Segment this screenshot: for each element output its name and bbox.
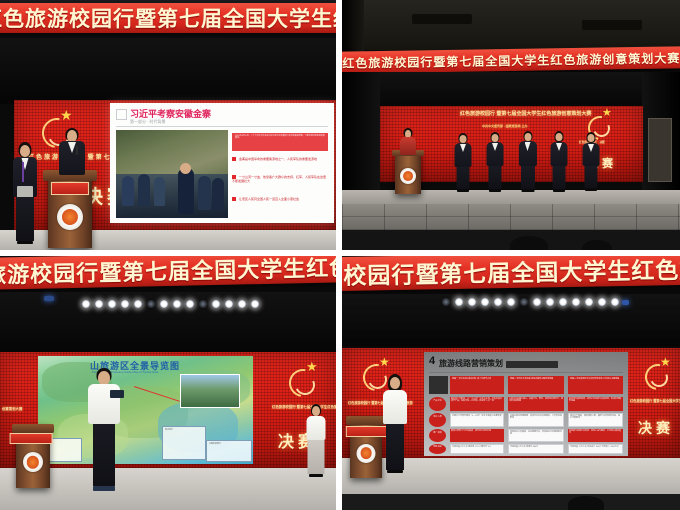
- stage-floor-tr: [342, 190, 680, 204]
- led-caption-bl-left: 创意策划大赛: [2, 406, 22, 411]
- tablet-icon: [110, 390, 124, 398]
- photo-panel-top-right[interactable]: 红色旅游校园行暨第七届全国大学生红色旅游创意策划大赛 红色旅游校园行 暨第七届全…: [342, 0, 680, 250]
- event-banner-tl: 红色旅游校园行暨第七届全国大学生红: [0, 3, 336, 33]
- podium-emblem-icon: [23, 452, 43, 472]
- matrix-number: 4: [429, 355, 435, 367]
- matrix-title-bar: [506, 361, 558, 368]
- stage-brick-pattern: [342, 204, 680, 230]
- person-contestant-3[interactable]: [516, 131, 539, 191]
- audience-head: [510, 236, 548, 250]
- person-host-tr[interactable]: [398, 128, 418, 154]
- podium-tl: [48, 170, 92, 248]
- matrix-cell-1-2: 以重走长征路为核心，设置行军、野炊、宿营等实践环节，强化集体荣誉感: [508, 397, 564, 411]
- slide-photo: [116, 130, 228, 218]
- slide-photo-caption: 2016年4月24日，二十七日中共中央总书记习近平在安徽省六安市金寨县考察，了解…: [232, 133, 328, 151]
- led-caption-tr: 红色旅游校园行 暨第七届全国大学生红色旅游创意策划大赛: [460, 110, 591, 117]
- matrix-row-label-2: 目标 人群: [429, 413, 446, 427]
- person-contestant-5[interactable]: [580, 132, 602, 190]
- map-legend-box: 景点索引: [162, 426, 206, 460]
- stage-door[interactable]: [648, 118, 672, 182]
- event-banner-br: 色旅游校园行暨第七届全国大学生红色旅游创: [342, 256, 680, 291]
- map-inset-photo: [180, 374, 240, 408]
- photo-collage: 红色旅游校园行暨第七届全国大学生红 ★ 红色旅游校园行 暨第七届全国大学生红色旅…: [0, 0, 680, 510]
- matrix-row-label-1: 产品 定位: [429, 397, 446, 411]
- slide-subtitle-tl: 第一部分 · 时代背景: [130, 119, 166, 125]
- event-logo-icon-right: ★: [642, 356, 674, 388]
- event-banner-tr: 红色旅游校园行暨第七届全国大学生红色旅游创意策划大赛: [342, 46, 680, 74]
- photo-panel-bottom-left[interactable]: 红色旅游校园行暨第七届全国大学生红色旅游 山旅游区全景导览图 Panoramic…: [0, 256, 336, 510]
- matrix-row-label-3: 推广 渠道: [429, 429, 446, 442]
- blue-light-icon: [44, 296, 54, 301]
- podium-bl: [16, 424, 50, 488]
- map-info-box: 主峰实景照片: [206, 440, 252, 462]
- stage-drape: [0, 38, 336, 104]
- audience-head: [582, 240, 612, 250]
- matrix-title: 旅游线路营销策划: [439, 358, 503, 369]
- auditorium-floor: [342, 494, 680, 510]
- person-contestant-1[interactable]: [452, 133, 474, 191]
- audience-head: [568, 496, 604, 510]
- person-host-bl[interactable]: [304, 404, 328, 480]
- matrix-col-header-3: 线路三 将军故里红色文化研学体验游 乡村振兴主题线路: [568, 376, 623, 394]
- matrix-cell-2-1: 全国中小学研学团体（6—18岁）及亲子家庭为主要客源: [450, 413, 504, 427]
- led-finals-br: 决赛: [638, 418, 674, 438]
- matrix-cell-1-3: 依托将军故里资源，结合乡村民宿与农事体验，形成红绿融合线路: [568, 397, 623, 411]
- ceiling-vent-icon: [582, 20, 642, 30]
- event-banner-bl: 红色旅游校园行暨第七届全国大学生红色旅游: [0, 256, 336, 290]
- blue-light-icon: [622, 300, 629, 305]
- matrix-col-header-2: 线路二 重走红军长征路 体验式教育主题营销线路: [508, 376, 564, 394]
- slide-bullet-2: 一寸山河一寸血，依靠着广大群众的支持，红军、人民军队在这里不断发展壮大: [232, 175, 328, 183]
- person-presenter-bl[interactable]: [84, 368, 124, 496]
- podium-sign: [10, 433, 53, 444]
- person-host-tl[interactable]: [10, 142, 40, 248]
- podium-emblem-icon: [57, 204, 83, 230]
- podium-sign: [51, 182, 89, 194]
- ceiling-vent-icon: [412, 14, 472, 24]
- slide-bullet-1: 金寨是中国革命的重要策源地之一，人民军队的重要发源地: [232, 157, 328, 161]
- led-subcaption-tr: 中共中央宣传部 · 国家旅游局 主办: [482, 124, 528, 128]
- matrix-cell-3-1: 教育主管部门与学校渠道、研学旅行机构分销: [450, 429, 504, 442]
- map-slide: 山旅游区全景导览图 Panoramic Sightseeing Guide Ma…: [38, 356, 253, 464]
- stage-light-bar: [82, 300, 259, 308]
- matrix-cell-4-3: 年接待量 12万人次 带动农户 300户 综合收入 3200万元: [568, 444, 623, 454]
- matrix-cell-2-3: 城市中产家庭、银发康养人群、摄影与自驾游爱好者、返乡寻根群体: [568, 413, 623, 427]
- person-contestant-4[interactable]: [548, 131, 570, 191]
- slide-bullet-3: 让老区人民同全国人民一道迈入全面小康社会: [232, 197, 328, 201]
- matrix-cell-3-2: 党政机关工会渠道、企业团建平台、高校就业与社团组织对接: [508, 429, 564, 442]
- matrix-cell-4-1: 年接待量 8万人次 复购率 25% 口碑评分 4.8: [450, 444, 504, 454]
- matrix-cell-3-3: 短视频与直播平台种草、旅游OTA专题页、乡村振兴媒体宣传: [568, 429, 623, 442]
- matrix-cell-2-2: 企事业单位党建团建、高校学生社会实践团队、户外爱好者群体: [508, 413, 564, 427]
- led-caption-br-right: 红色旅游校园行 暨第七届全国大学生: [630, 398, 680, 403]
- photo-panel-bottom-right[interactable]: 色旅游校园行暨第七届全国大学生红色旅游创 4 旅游线路营销策划 线路一 寻访大别…: [342, 256, 680, 510]
- podium-emblem-icon: [400, 168, 416, 184]
- podium-emblem-icon: [357, 444, 376, 463]
- stage-drape-left: [342, 72, 380, 200]
- event-logo-icon: ★: [286, 360, 322, 396]
- slide-marker-icon: [116, 109, 127, 120]
- person-presenter-br[interactable]: [380, 374, 410, 476]
- lanyard-icon: [22, 162, 24, 182]
- matrix-cell-4-2: 年接待量 5万人次 客单价 680元: [508, 444, 564, 454]
- person-contestant-2[interactable]: [484, 132, 506, 191]
- podium-tr: [395, 150, 421, 194]
- stage-light-bar: [442, 298, 619, 306]
- stage-floor-bl: [0, 468, 336, 510]
- photo-panel-top-left[interactable]: 红色旅游校园行暨第七届全国大学生红 ★ 红色旅游校园行 暨第七届全国大学生红色旅…: [0, 0, 336, 250]
- matrix-slide: 4 旅游线路营销策划 线路一 寻访大别山革命旧址 青少年研学之旅 线路二 重走红…: [424, 352, 628, 456]
- matrix-corner-cell: [429, 376, 448, 394]
- slide-divider: [116, 126, 328, 127]
- person-speaker-tl[interactable]: [56, 128, 88, 174]
- podium-br: [350, 416, 382, 478]
- presentation-slide-tl: 习近平考察安徽金寨 第一部分 · 时代背景 2016年4月24日，二十七日中共中…: [110, 103, 334, 223]
- matrix-row-label-4: 预期 效益: [429, 444, 446, 454]
- microphone-icon: [76, 146, 78, 155]
- matrix-col-header-1: 线路一 寻访大别山革命旧址 青少年研学之旅: [450, 376, 504, 394]
- matrix-cell-1-1: 面向青少年群体，以'一寸山河一寸血'为主线，打造沉浸式研学产品；串联'旧址—纪念…: [450, 397, 504, 411]
